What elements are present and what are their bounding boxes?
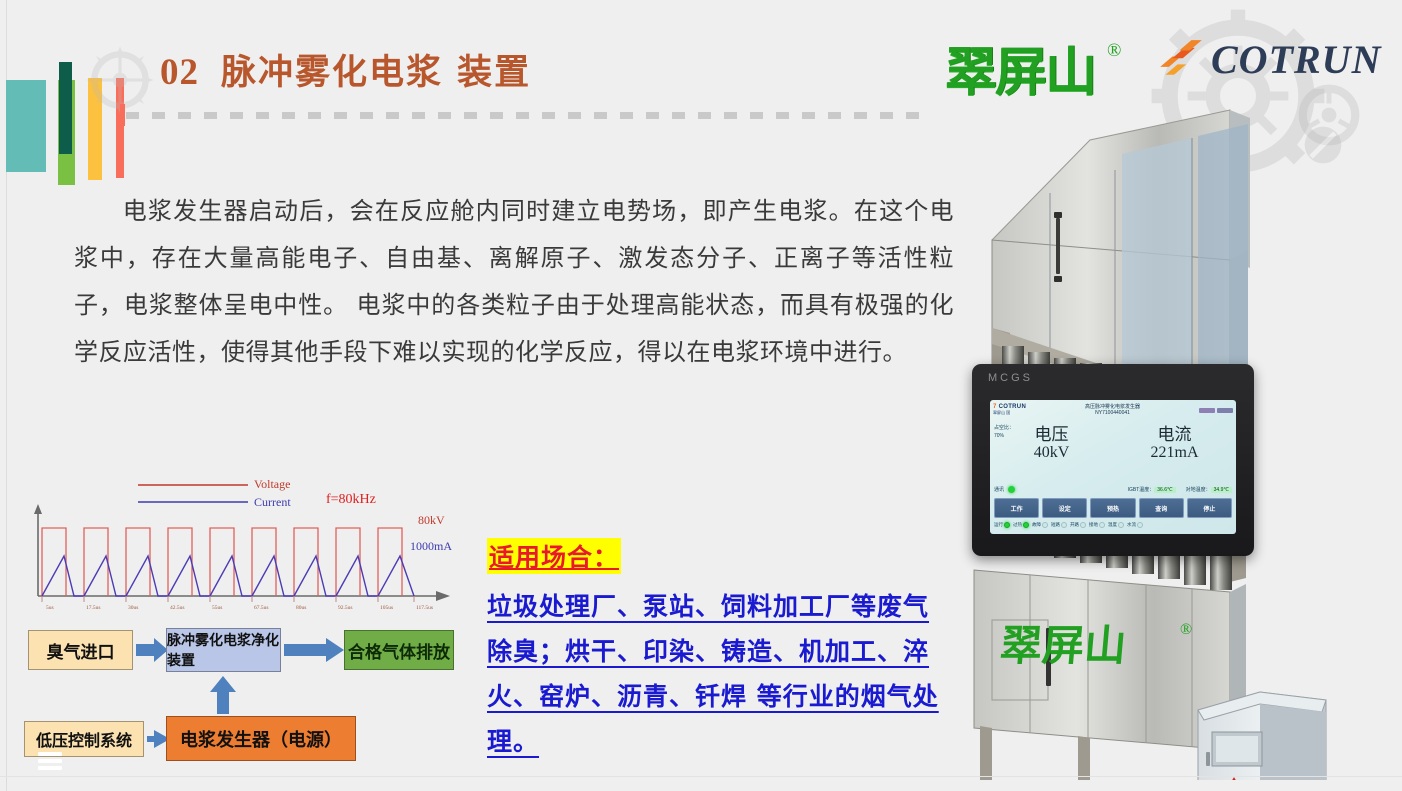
- page-title: 02 脉冲雾化电浆 装置: [160, 44, 531, 95]
- hmi-badge-2: [1217, 408, 1233, 413]
- hmi-title-line2: NY7100440041: [1026, 410, 1199, 416]
- hmi-button-stop[interactable]: 停止: [1187, 498, 1232, 518]
- waveform-chart: Voltage Current f=80kHz 80kV 1000mA: [18, 470, 478, 620]
- status-temp: 温度: [1108, 522, 1124, 528]
- status-overheat: 过热: [1013, 522, 1029, 528]
- svg-text:Voltage: Voltage: [254, 477, 290, 491]
- hmi-button-setting[interactable]: 设定: [1042, 498, 1087, 518]
- hmi-touch-panel[interactable]: MCGS 7 COTRUN 翠屏山 国 高压脉冲雾化电浆发生器 NY710044…: [972, 364, 1254, 556]
- status-led-short-icon: [1061, 522, 1067, 528]
- x-tick-4: 55us: [212, 605, 222, 611]
- cotrun-logo: COTRUN: [1155, 36, 1381, 83]
- status-led-temp-icon: [1118, 522, 1124, 528]
- x-tick-6: 80us: [296, 605, 306, 611]
- hmi-status-row: 运行 过热 故障 短路 开路 接地 温度 水流: [994, 522, 1232, 528]
- hmi-screen[interactable]: 7 COTRUN 翠屏山 国 高压脉冲雾化电浆发生器 NY7100440041 …: [990, 400, 1236, 534]
- hmi-voltage-label: 电压: [990, 420, 1113, 445]
- status-led-run-icon: [1004, 522, 1010, 528]
- brand-logo: 翠屏山 ®: [945, 30, 1155, 105]
- status-led-overheat-icon: [1023, 522, 1029, 528]
- menu-hamburger-icon[interactable]: [38, 752, 62, 770]
- hmi-button-work[interactable]: 工作: [994, 498, 1039, 518]
- hmi-current-readout: 电流 221mA: [1113, 420, 1236, 462]
- cotrun-text: COTRUN: [1211, 36, 1381, 83]
- status-open: 开路: [1070, 522, 1086, 528]
- flow-node-generator: 电浆发生器（电源）: [166, 716, 356, 761]
- slide-root: 02 脉冲雾化电浆 装置 翠屏山 ®: [0, 0, 1402, 791]
- status-led-ground-icon: [1099, 522, 1105, 528]
- page-title-text: 脉冲雾化电浆 装置: [221, 44, 531, 95]
- hmi-current-value: 221mA: [1113, 444, 1236, 462]
- svg-text:Current: Current: [254, 495, 291, 509]
- hmi-temp2-label: 对地温度：: [1186, 487, 1211, 493]
- status-water: 水流: [1127, 522, 1143, 528]
- cotrun-mark-icon: [1155, 37, 1207, 83]
- x-tick-2: 30us: [128, 605, 138, 611]
- hmi-current-label: 电流: [1113, 420, 1236, 445]
- hmi-logo-cn: 翠屏山 国: [993, 410, 1026, 416]
- paragraph-text: 电浆发生器启动后，会在反应舱内同时建立电势场，即产生电浆。在这个电浆中，存在大量…: [74, 197, 954, 366]
- hmi-brand-label: MCGS: [988, 372, 1033, 384]
- applicable-heading: 适用场合：: [487, 538, 621, 574]
- footer-rule: [0, 776, 1402, 777]
- flow-node-outlet: 合格气体排放: [344, 630, 454, 670]
- x-tick-5: 67.5us: [254, 605, 269, 611]
- hmi-temp1-value: 36.6℃: [1154, 487, 1175, 493]
- x-tick-0: 5us: [46, 605, 54, 611]
- status-run: 运行: [994, 522, 1010, 528]
- hmi-button-row: 工作 设定 预热 查询 停止: [994, 498, 1232, 518]
- hmi-temp2-value: 34.9℃: [1211, 487, 1232, 493]
- status-short: 短路: [1051, 522, 1067, 528]
- flow-node-device: 脉冲雾化电浆净化装置: [166, 628, 281, 672]
- equipment-brand-cn: 翠屏山: [998, 621, 1128, 670]
- svg-text:80kV: 80kV: [418, 513, 445, 527]
- hmi-header-badges: [1199, 408, 1233, 413]
- hmi-screen-header: 7 COTRUN 翠屏山 国 高压脉冲雾化电浆发生器 NY7100440041: [993, 402, 1233, 418]
- title-dashed-rule: [126, 112, 926, 119]
- decor-bar-teal: [6, 80, 46, 172]
- x-tick-1: 17.5us: [86, 605, 101, 611]
- applicable-scenarios: 适用场合： 垃圾处理厂、泵站、饲料加工厂等废气除臭；烘干、印染、铸造、机加工、淬…: [487, 538, 947, 764]
- hmi-comm-and-temps: 通讯 IGBT温度：36.6℃ 对地温度：34.9℃: [994, 486, 1232, 493]
- page-title-number: 02: [160, 51, 199, 94]
- x-tick-3: 42.5us: [170, 605, 185, 611]
- hmi-comm-label: 通讯: [994, 486, 1004, 493]
- x-tick-8: 105us: [380, 605, 393, 611]
- hmi-temp1-label: IGBT温度：: [1128, 487, 1155, 493]
- hmi-readouts: 电压 40kV 电流 221mA: [990, 420, 1236, 462]
- svg-text:f=80kHz: f=80kHz: [326, 492, 376, 507]
- status-led-open-icon: [1080, 522, 1086, 528]
- applicable-body: 垃圾处理厂、泵站、饲料加工厂等废气除臭；烘干、印染、铸造、机加工、淬火、窑炉、沥…: [487, 584, 947, 764]
- brand-name-cn: 翠屏山: [945, 43, 1095, 103]
- equipment-brand-reg: ®: [1180, 621, 1192, 638]
- hmi-voltage-value: 40kV: [990, 444, 1113, 462]
- registered-mark-icon: ®: [1107, 40, 1121, 62]
- decor-bar-dark-teal: [59, 62, 72, 154]
- hmi-screen-logo: 7 COTRUN 翠屏山 国: [993, 404, 1026, 416]
- comm-status-led-icon: [1008, 486, 1015, 493]
- hmi-button-query[interactable]: 查询: [1139, 498, 1184, 518]
- hmi-screen-title: 高压脉冲雾化电浆发生器 NY7100440041: [1026, 404, 1199, 416]
- hmi-button-preheat[interactable]: 预热: [1090, 498, 1135, 518]
- x-tick-9: 117.5us: [416, 605, 433, 611]
- status-led-fault-icon: [1042, 522, 1048, 528]
- body-paragraph: 电浆发生器启动后，会在反应舱内同时建立电势场，即产生电浆。在这个电浆中，存在大量…: [74, 188, 954, 376]
- svg-text:1000mA: 1000mA: [410, 539, 452, 553]
- process-flow-diagram: 臭气进口 脉冲雾化电浆净化装置 合格气体排放 低压控制系统 电浆发生器（电源）: [14, 618, 474, 760]
- hmi-temperatures: IGBT温度：36.6℃ 对地温度：34.9℃: [1128, 486, 1232, 493]
- x-tick-7: 92.5us: [338, 605, 353, 611]
- status-fault: 故障: [1032, 522, 1048, 528]
- hmi-badge-1: [1199, 408, 1215, 413]
- hmi-voltage-readout: 电压 40kV: [990, 420, 1113, 462]
- status-led-water-icon: [1137, 522, 1143, 528]
- title-tick-mark: [120, 104, 125, 126]
- status-ground: 接地: [1089, 522, 1105, 528]
- flow-node-inlet: 臭气进口: [28, 630, 133, 670]
